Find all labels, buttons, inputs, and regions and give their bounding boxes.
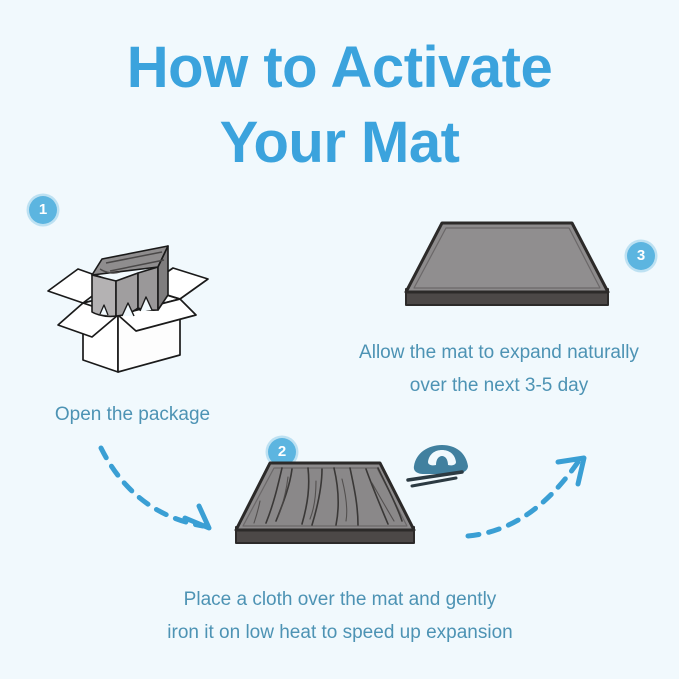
title-line-2: Your Mat: [0, 105, 679, 180]
wrinkled-mat-icon: [230, 455, 420, 565]
step-2-caption: Place a cloth over the mat and gently ir…: [105, 583, 575, 649]
title-line-1: How to Activate: [0, 30, 679, 105]
step-1-caption: Open the package: [10, 398, 255, 431]
step-2-caption-line-1: Place a cloth over the mat and gently: [105, 583, 575, 616]
step-3-caption: Allow the mat to expand naturally over t…: [318, 336, 679, 402]
flat-expanded-mat-icon: [400, 215, 615, 325]
step-3-caption-line-1: Allow the mat to expand naturally: [318, 336, 679, 369]
step-3-badge: 3: [627, 242, 655, 270]
arrow-step1-to-step2-icon: [95, 440, 235, 555]
step-3-caption-line-2: over the next 3-5 day: [318, 369, 679, 402]
step-1-caption-line-1: Open the package: [10, 398, 255, 431]
open-cardboard-box-icon: [40, 215, 225, 380]
arrow-step2-to-step3-icon: [460, 440, 600, 555]
step-2-caption-line-2: iron it on low heat to speed up expansio…: [105, 616, 575, 649]
infographic-canvas: How to Activate Your Mat 1: [0, 0, 679, 679]
page-title: How to Activate Your Mat: [0, 30, 679, 181]
